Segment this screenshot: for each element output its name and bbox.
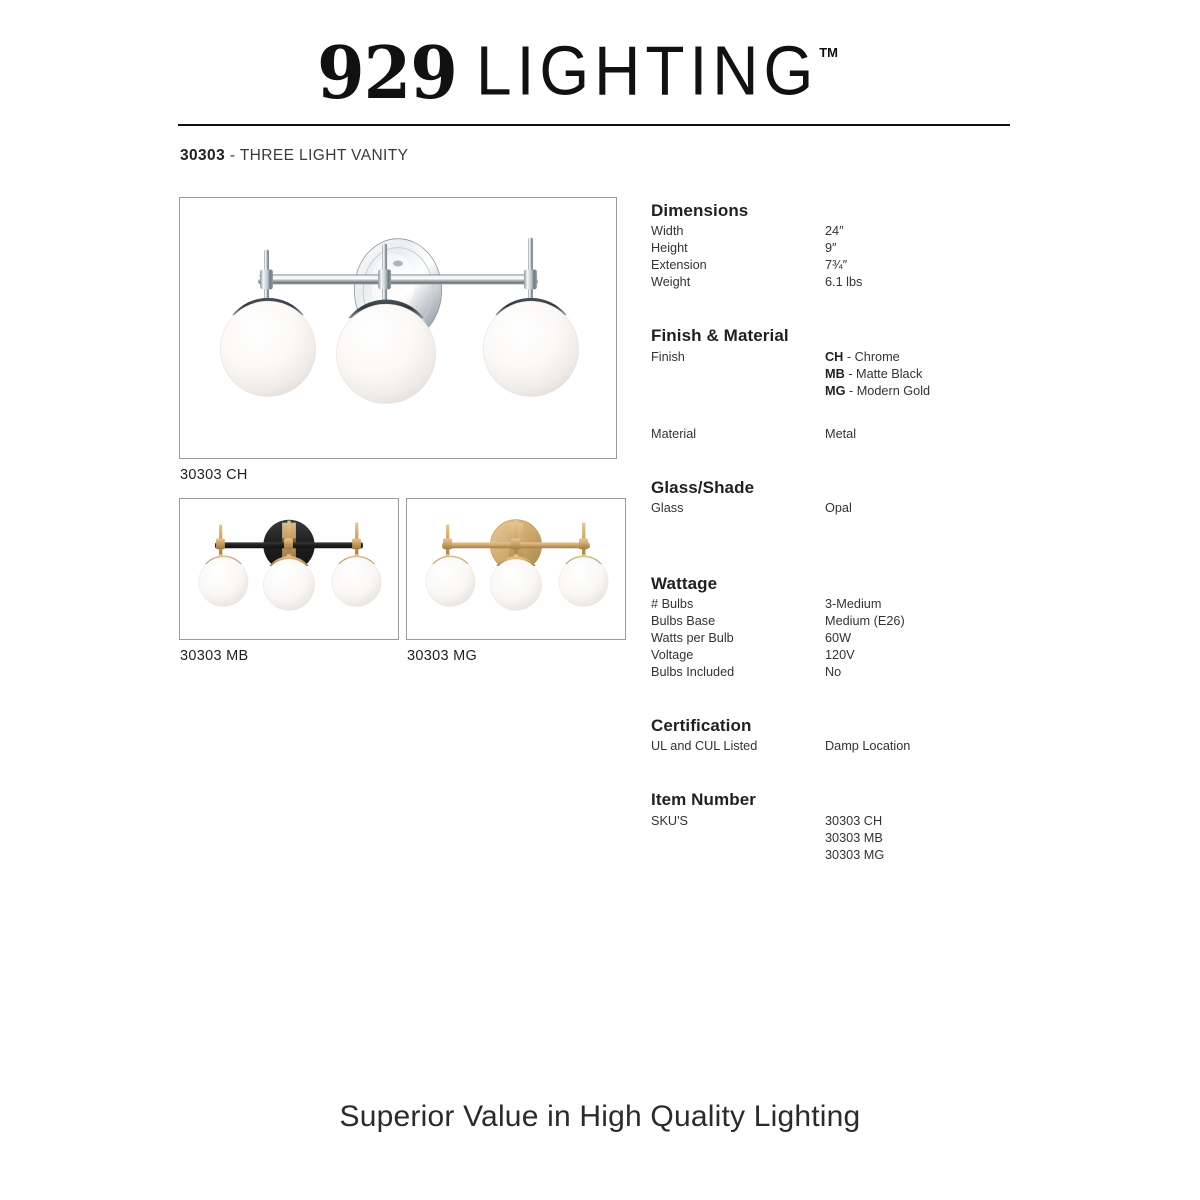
globe-right (559, 555, 608, 606)
product-image-caption-matte-black: 30303 MB (180, 648, 249, 664)
product-image-caption-chrome: 30303 CH (180, 467, 248, 483)
spec-value-finish-mb: MB - Matte Black (825, 366, 922, 383)
header-divider (178, 124, 1010, 126)
spec-row-voltage: Voltage 120V (651, 647, 1011, 664)
spec-row-ul-cul: UL and CUL Listed Damp Location (651, 738, 1011, 755)
spec-value-finish-mg: MG - Modern Gold (825, 383, 930, 400)
chrome-vanity-illustration (180, 198, 616, 458)
spec-value: Opal (825, 500, 852, 517)
spec-value: 60W (825, 630, 851, 647)
spec-label: Glass (651, 500, 683, 517)
spec-label: Voltage (651, 647, 693, 664)
product-image-matte-black (179, 498, 399, 640)
spec-value: 120V (825, 647, 855, 664)
spec-value: 6.1 lbs (825, 274, 862, 291)
section-heading-glass-shade: Glass/Shade (651, 477, 1011, 498)
modern-gold-vanity-illustration (407, 499, 625, 639)
page-title: 30303 - THREE LIGHT VANITY (180, 147, 408, 165)
spacer (651, 517, 1011, 573)
spec-row-material: Material Metal (651, 426, 1011, 443)
globe-left (220, 298, 315, 397)
spec-value-sku: 30303 MG (825, 847, 884, 864)
globe-center (490, 556, 541, 610)
spec-row-height: Height 9″ (651, 240, 1011, 257)
section-certification: Certification UL and CUL Listed Damp Loc… (651, 715, 1011, 755)
section-heading-certification: Certification (651, 715, 1011, 736)
spacer (651, 443, 1011, 477)
spec-row-bulbs-included: Bulbs Included No (651, 664, 1011, 681)
spec-value: 3-Medium (825, 596, 881, 613)
section-wattage: Wattage # Bulbs 3-Medium Bulbs Base Medi… (651, 573, 1011, 681)
spec-label: UL and CUL Listed (651, 738, 757, 755)
specifications-panel: Dimensions Width 24″ Height 9″ Extension… (651, 200, 1011, 864)
logo-wordmark: LIGHTING (476, 38, 818, 104)
spec-row-bulbs-base: Bulbs Base Medium (E26) (651, 613, 1011, 630)
matte-black-vanity-illustration (180, 499, 398, 639)
spec-row-sku-1: SKU'S 30303 CH (651, 813, 1011, 830)
spec-value: No (825, 664, 841, 681)
spec-label: Finish (651, 349, 685, 366)
spacer (651, 755, 1011, 789)
section-glass-shade: Glass/Shade Glass Opal (651, 477, 1011, 517)
footer-tagline: Superior Value in High Quality Lighting (0, 1100, 1200, 1134)
globe-center (263, 556, 314, 610)
product-image-modern-gold (406, 498, 626, 640)
spec-label: Material (651, 426, 696, 443)
spec-value: 24″ (825, 223, 844, 240)
globe-right (483, 298, 578, 397)
spec-row-num-bulbs: # Bulbs 3-Medium (651, 596, 1011, 613)
spec-label: # Bulbs (651, 596, 693, 613)
section-heading-finish-material: Finish & Material (651, 325, 1011, 346)
spec-label: Bulbs Included (651, 664, 734, 681)
spec-row-finish-ch: Finish CH - Chrome (651, 349, 1011, 366)
finish-dash: - (843, 350, 854, 364)
spacer (651, 400, 1011, 426)
spec-value: Damp Location (825, 738, 910, 755)
logo-number: 929 (317, 42, 457, 104)
spec-row-sku-3: 30303 MG (651, 847, 1011, 864)
finish-code-ch: CH (825, 350, 843, 364)
spec-label: Watts per Bulb (651, 630, 734, 647)
globe-left (426, 555, 475, 606)
section-finish-material: Finish & Material Finish CH - Chrome MB … (651, 325, 1011, 442)
crossbar (258, 274, 538, 284)
section-item-number: Item Number SKU'S 30303 CH 30303 MB 3030… (651, 789, 1011, 863)
spec-value-sku: 30303 CH (825, 813, 882, 830)
globe-right (332, 555, 381, 606)
section-heading-dimensions: Dimensions (651, 200, 1011, 221)
spec-label: Extension (651, 257, 707, 274)
spec-label: Width (651, 223, 683, 240)
finish-code-mb: MB (825, 367, 845, 381)
spec-row-extension: Extension 7¾″ (651, 257, 1011, 274)
finish-dash: - (845, 384, 856, 398)
spec-row-watts-per-bulb: Watts per Bulb 60W (651, 630, 1011, 647)
section-dimensions: Dimensions Width 24″ Height 9″ Extension… (651, 200, 1011, 291)
finish-name-mb: Matte Black (856, 367, 922, 381)
finish-dash: - (845, 367, 856, 381)
finish-code-mg: MG (825, 384, 845, 398)
spec-row-width: Width 24″ (651, 223, 1011, 240)
spec-value-finish-ch: CH - Chrome (825, 349, 900, 366)
spec-value: Metal (825, 426, 856, 443)
spec-label: Weight (651, 274, 690, 291)
spec-label: Bulbs Base (651, 613, 715, 630)
spec-row-weight: Weight 6.1 lbs (651, 274, 1011, 291)
section-heading-wattage: Wattage (651, 573, 1011, 594)
finish-name-ch: Chrome (855, 350, 900, 364)
section-heading-item-number: Item Number (651, 789, 1011, 810)
spec-row-sku-2: 30303 MB (651, 830, 1011, 847)
product-name: THREE LIGHT VANITY (240, 147, 409, 164)
spacer (651, 681, 1011, 715)
spec-row-finish-mb: MB - Matte Black (651, 366, 1011, 383)
product-code: 30303 (180, 147, 225, 164)
spec-value: 9″ (825, 240, 837, 257)
finish-name-mg: Modern Gold (857, 384, 930, 398)
spec-row-finish-mg: MG - Modern Gold (651, 383, 1011, 400)
spec-value: 7¾″ (825, 257, 847, 274)
trademark-icon: TM (819, 46, 838, 59)
spacer (651, 291, 1011, 325)
spec-label: Height (651, 240, 688, 257)
brand-logo: 929 LIGHTING TM (178, 22, 1010, 104)
product-image-caption-modern-gold: 30303 MG (407, 648, 477, 664)
product-separator: - (225, 147, 240, 164)
spec-label-skus: SKU'S (651, 813, 688, 830)
globe-center (336, 300, 435, 404)
globe-left (199, 555, 248, 606)
spec-value: Medium (E26) (825, 613, 905, 630)
spec-row-glass: Glass Opal (651, 500, 1011, 517)
spec-value-sku: 30303 MB (825, 830, 883, 847)
logo-lockup: 929 LIGHTING TM (317, 42, 838, 104)
product-image-chrome (179, 197, 617, 459)
